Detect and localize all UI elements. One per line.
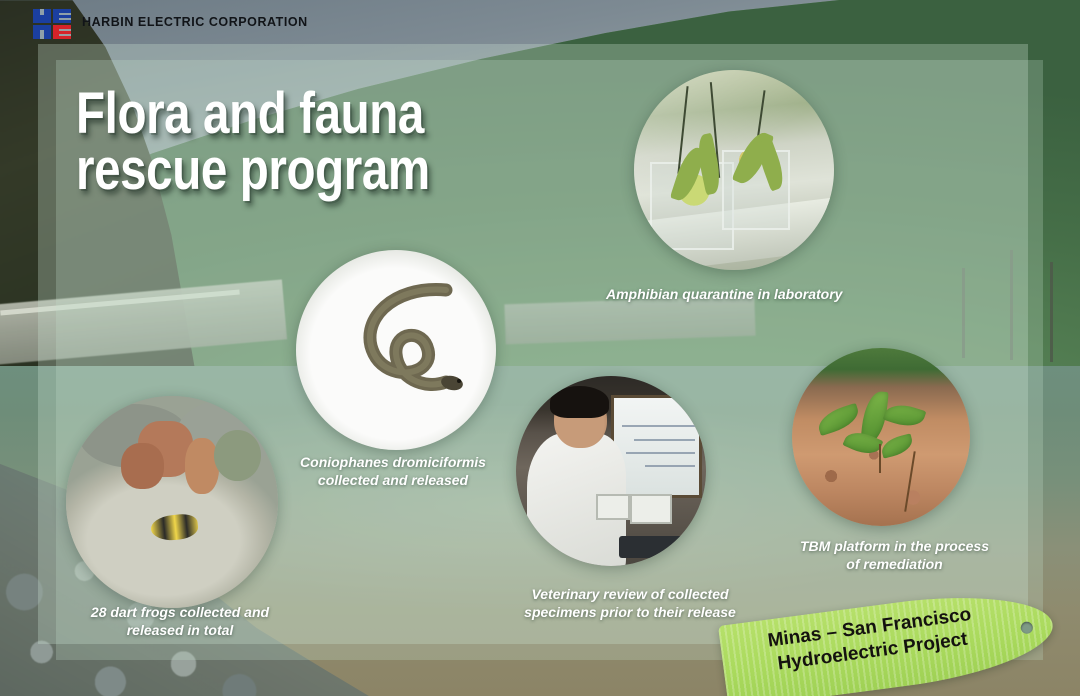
photo-tbm-platform-image: [792, 348, 970, 526]
harbin-electric-logo-icon: [33, 9, 71, 39]
photo-veterinary-review-image: [516, 376, 706, 566]
logo-quadrant-1: [33, 9, 51, 23]
tag-hole-icon: [1020, 621, 1033, 634]
photo-dart-frogs-image: [66, 396, 278, 608]
photo-snake-released: [296, 250, 496, 450]
caption-snake-released: Coniophanes dromiciformis collected and …: [287, 454, 499, 490]
logo-quadrant-3: [33, 25, 51, 39]
caption-veterinary-review: Veterinary review of collected specimens…: [496, 586, 764, 622]
caption-amphibian-quarantine: Amphibian quarantine in laboratory: [606, 286, 842, 304]
caption-tbm-platform: TBM platform in the process of remediati…: [772, 538, 1017, 574]
photo-amphibian-quarantine: [634, 70, 834, 270]
photo-tbm-platform: [792, 348, 970, 526]
logo-quadrant-4: [53, 25, 71, 39]
utility-pylon: [1050, 262, 1053, 362]
slide-header: HARBIN ELECTRIC CORPORATION: [0, 0, 1080, 44]
caption-dart-frogs: 28 dart frogs collected and released in …: [60, 604, 300, 640]
logo-quadrant-2: [53, 9, 71, 23]
brand-name: HARBIN ELECTRIC CORPORATION: [82, 15, 308, 29]
page-title: Flora and fauna rescue program: [76, 86, 430, 199]
photo-dart-frogs: [66, 396, 278, 608]
photo-snake-released-image: [296, 250, 496, 450]
photo-amphibian-quarantine-image: [634, 70, 834, 270]
photo-veterinary-review: [516, 376, 706, 566]
slide-canvas: HARBIN ELECTRIC CORPORATION Flora and fa…: [0, 0, 1080, 696]
